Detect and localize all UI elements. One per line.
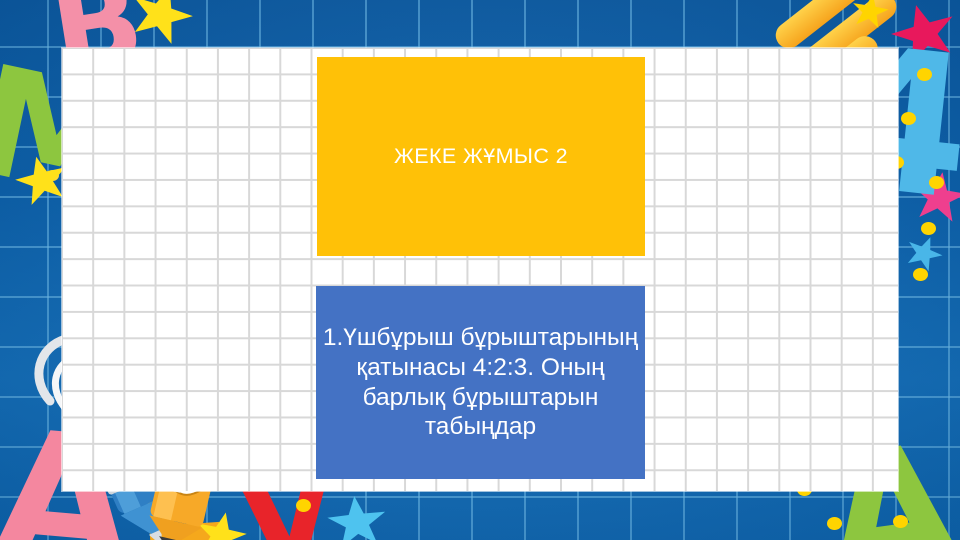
dot-decoration xyxy=(913,268,928,281)
task-text: 1.Үшбұрыш бұрыштарының қатынасы 4:2:3. О… xyxy=(322,323,639,443)
page-title: ЖЕКЕ ЖҰМЫС 2 xyxy=(394,144,568,169)
dot-decoration xyxy=(929,176,944,189)
dot-decoration xyxy=(296,499,311,512)
dot-decoration xyxy=(917,68,932,81)
dot-decoration xyxy=(827,517,842,530)
dot-decoration xyxy=(893,515,908,528)
task-box[interactable]: 1.Үшбұрыш бұрыштарының қатынасы 4:2:3. О… xyxy=(316,286,645,479)
dot-decoration xyxy=(921,222,936,235)
slide-canvas: B M 4 A L V A xyxy=(0,0,960,540)
title-box[interactable]: ЖЕКЕ ЖҰМЫС 2 xyxy=(317,57,645,256)
dot-decoration xyxy=(901,112,916,125)
